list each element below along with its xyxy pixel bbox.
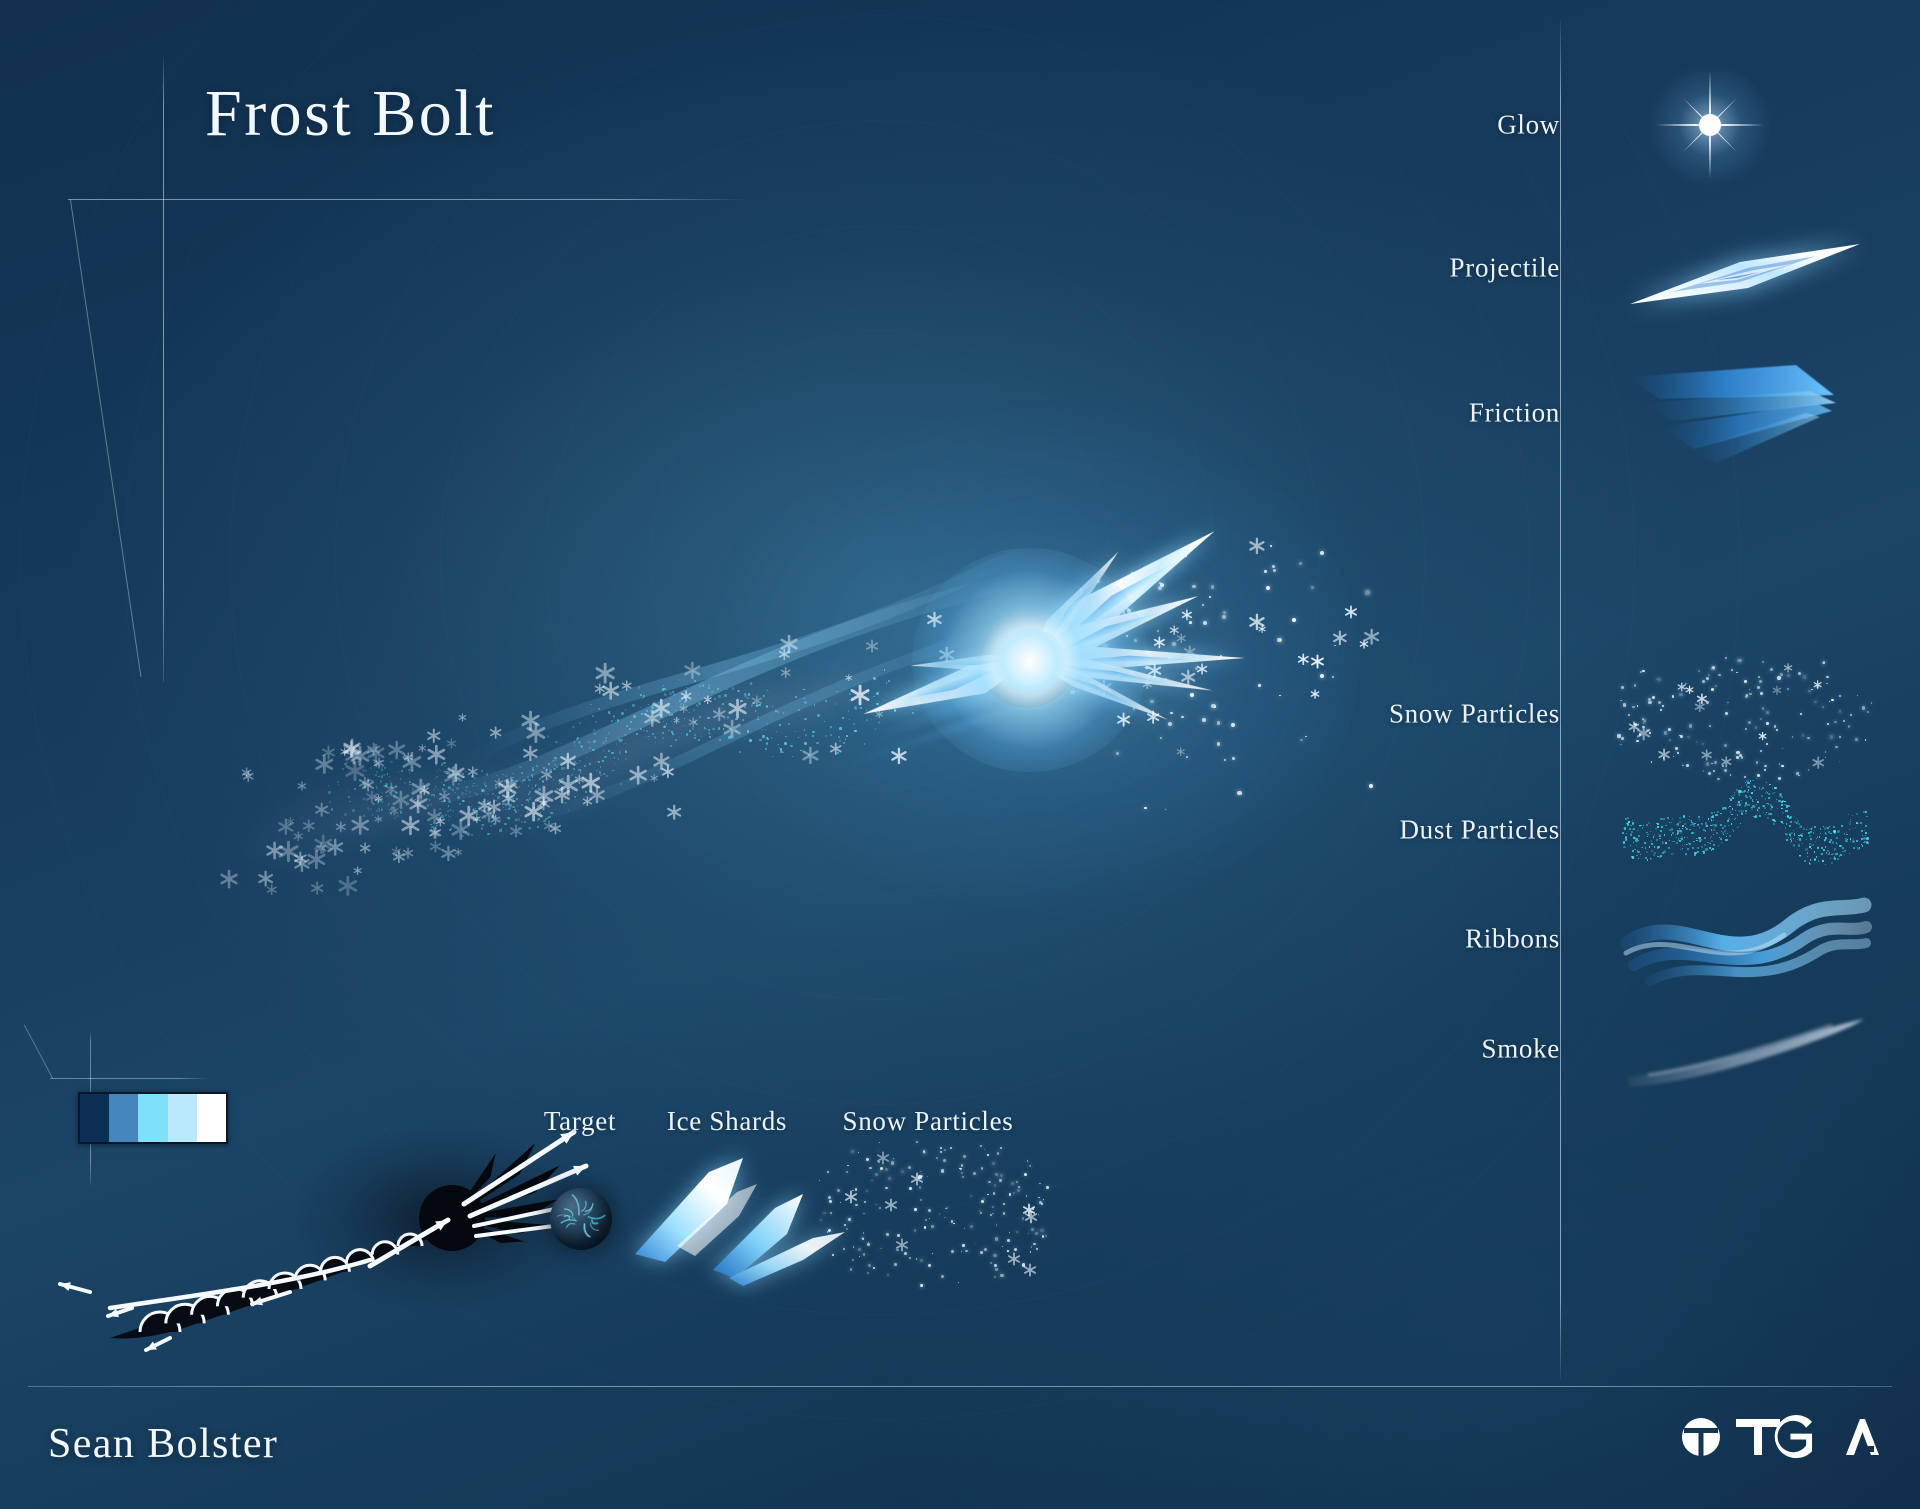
- dust-particle: [412, 769, 414, 771]
- dust-particle: [1822, 860, 1824, 862]
- dust-particle: [436, 776, 438, 778]
- dust-particle: [1679, 840, 1681, 842]
- dust-particle: [348, 768, 349, 769]
- dust-particle: [792, 756, 793, 757]
- snow-particle: [1826, 683, 1828, 685]
- dust-particle: [1817, 836, 1819, 838]
- snow-particle: [1823, 661, 1826, 664]
- dust-particle: [1807, 856, 1808, 857]
- dust-particle: [1726, 836, 1727, 837]
- dust-particle: [1709, 843, 1710, 844]
- dust-particle: [485, 785, 487, 787]
- snow-particle: [946, 1207, 949, 1210]
- dust-particle: [493, 818, 495, 820]
- dust-particle: [561, 778, 563, 780]
- snow-particle: [1160, 737, 1162, 739]
- snow-particle: [1158, 586, 1162, 590]
- dust-particle: [574, 761, 576, 763]
- snow-particle: [880, 1167, 883, 1170]
- dust-particle: [1675, 834, 1676, 835]
- color-palette: [78, 1092, 228, 1144]
- snow-flake: [314, 802, 329, 817]
- dust-particle: [1671, 834, 1673, 836]
- snow-particle: [1078, 600, 1081, 603]
- dust-particle: [1751, 807, 1753, 809]
- dust-particle: [1730, 798, 1732, 800]
- dust-particle: [1766, 803, 1768, 805]
- dust-particle: [1689, 843, 1690, 844]
- snow-flake: [574, 774, 585, 785]
- dust-particle: [505, 775, 507, 777]
- snow-particle: [1077, 690, 1079, 692]
- dust-particle: [557, 788, 558, 789]
- dust-particle: [1785, 810, 1787, 812]
- dust-particle: [395, 786, 396, 787]
- snow-particle: [1736, 672, 1737, 673]
- snow-particle: [940, 1151, 942, 1153]
- dust-particle: [1714, 812, 1715, 813]
- dust-particle: [1826, 852, 1828, 854]
- dust-particle: [477, 803, 478, 804]
- dust-particle: [1677, 823, 1679, 825]
- dust-particle: [394, 809, 397, 812]
- dust-particle: [1671, 853, 1673, 855]
- dust-particle: [1780, 794, 1782, 796]
- dust-particle: [1721, 831, 1722, 832]
- dust-particle: [1795, 841, 1796, 842]
- dust-particle: [450, 809, 452, 811]
- dust-particle: [846, 735, 848, 737]
- dust-particle: [461, 792, 464, 795]
- dust-particle: [1802, 843, 1803, 844]
- dust-particle: [837, 752, 838, 753]
- snow-particle: [1130, 671, 1134, 675]
- snow-particle: [830, 1212, 832, 1214]
- dust-particle: [1650, 858, 1652, 860]
- dust-particle: [1824, 840, 1825, 841]
- dust-particle: [1692, 823, 1694, 825]
- dust-particle: [452, 789, 454, 791]
- dust-particle: [473, 809, 475, 811]
- dust-particle: [448, 786, 449, 787]
- dust-particle: [587, 741, 589, 743]
- snow-particle: [1669, 739, 1671, 741]
- dust-particle: [1637, 851, 1639, 853]
- dust-particle: [528, 779, 531, 782]
- dust-particle: [1638, 851, 1640, 853]
- snow-flake: [829, 742, 843, 756]
- dust-particle: [1809, 846, 1811, 848]
- dust-particle: [1704, 844, 1706, 846]
- snow-particle: [941, 1275, 944, 1278]
- dust-particle: [348, 790, 350, 792]
- dust-particle: [830, 726, 832, 728]
- dust-particle: [442, 788, 444, 790]
- snow-particle: [963, 1155, 966, 1158]
- snow-particle: [1266, 586, 1270, 590]
- snow-particle: [862, 1238, 864, 1240]
- dust-particle: [384, 785, 387, 788]
- dust-particle: [1741, 813, 1742, 814]
- dust-particle: [434, 789, 435, 790]
- dust-particle: [873, 696, 874, 697]
- snow-particle: [1715, 685, 1717, 687]
- snow-particle: [1711, 688, 1714, 691]
- snow-flake: [522, 745, 539, 762]
- dust-particle: [1755, 815, 1757, 817]
- dust-particle: [479, 835, 480, 836]
- dust-particle: [1824, 827, 1825, 828]
- snow-flake: [938, 646, 955, 663]
- dust-particle: [547, 735, 550, 738]
- dust-particle: [514, 809, 516, 811]
- snow-particle: [983, 1198, 985, 1200]
- dust-particle: [469, 791, 471, 793]
- ice-shard-icon: [1610, 198, 1880, 338]
- snow-flake: [497, 778, 518, 799]
- dust-particle: [1768, 813, 1770, 815]
- dust-particle: [537, 826, 539, 828]
- snow-particle: [1007, 1239, 1010, 1242]
- snow-flake: [661, 765, 675, 779]
- dust-particle: [1713, 844, 1715, 846]
- snow-particle: [1652, 696, 1655, 699]
- dust-particle: [564, 767, 566, 769]
- dust-particle: [873, 677, 876, 680]
- dust-particle: [440, 793, 442, 795]
- dust-particle: [412, 767, 413, 768]
- snow-flake: [219, 869, 239, 889]
- snow-flake: [306, 849, 327, 870]
- dust-particle: [1672, 841, 1674, 843]
- dust-particle: [471, 834, 473, 836]
- snow-particle: [837, 1189, 840, 1192]
- snow-particle: [1220, 655, 1222, 657]
- dust-particle: [657, 760, 658, 761]
- dust-particle: [871, 719, 872, 720]
- snow-flake: [477, 798, 492, 813]
- snow-particle: [871, 1180, 873, 1182]
- dust-particle: [585, 791, 588, 794]
- dust-particle: [1762, 787, 1764, 789]
- dust-particle: [1698, 824, 1699, 825]
- snow-flake: [540, 768, 553, 781]
- snow-particle: [1217, 721, 1221, 725]
- snow-particle: [1745, 728, 1748, 731]
- dust-particle: [483, 815, 485, 817]
- dust-particle: [1679, 821, 1681, 823]
- dust-particle: [1797, 849, 1798, 850]
- dust-particle: [1650, 858, 1652, 860]
- dust-particle: [724, 731, 725, 732]
- snow-flake: [1023, 1263, 1037, 1277]
- dust-particle: [585, 777, 586, 778]
- dust-particle: [411, 793, 412, 794]
- dust-particle: [479, 808, 481, 810]
- snow-particle: [916, 1258, 918, 1260]
- dust-particle: [1749, 804, 1750, 805]
- dust-particle: [1833, 853, 1834, 854]
- dust-particle: [1625, 818, 1627, 820]
- dust-particle: [1806, 839, 1807, 840]
- dust-particle: [1752, 801, 1753, 802]
- dust-particle: [412, 788, 414, 790]
- dust-particle: [1788, 837, 1789, 838]
- dust-particle: [401, 804, 403, 806]
- snow-particle: [990, 1262, 992, 1264]
- dust-particle: [526, 799, 529, 802]
- dust-particle: [1794, 833, 1795, 834]
- dust-particle: [461, 828, 463, 830]
- snow-particle: [1724, 744, 1727, 747]
- snow-particle: [1621, 737, 1624, 740]
- dust-particle: [1643, 825, 1644, 826]
- dust-particle: [497, 796, 500, 799]
- dust-particle: [547, 817, 549, 819]
- dust-particle: [625, 751, 626, 752]
- dust-particle: [1685, 827, 1686, 828]
- dust-particle: [600, 766, 602, 768]
- dust-particle: [540, 812, 541, 813]
- dust-particle: [1839, 845, 1841, 847]
- dust-particle: [614, 764, 615, 765]
- dust-particle: [1720, 838, 1721, 839]
- dust-particle: [1828, 831, 1830, 833]
- snow-particle: [1202, 604, 1204, 606]
- snow-particle: [927, 1176, 928, 1177]
- dust-particle: [1741, 813, 1743, 815]
- dust-particle: [1701, 823, 1703, 825]
- legend-label: Projectile: [1450, 253, 1560, 284]
- snow-particle: [1144, 807, 1147, 810]
- dust-particle: [1653, 836, 1655, 838]
- snow-particle: [1642, 670, 1645, 673]
- dust-particle: [441, 815, 444, 818]
- dust-particle: [605, 737, 607, 739]
- dust-particle: [485, 781, 486, 782]
- snow-particle: [909, 1257, 911, 1259]
- dust-particle: [1646, 832, 1647, 833]
- dust-particle: [625, 758, 627, 760]
- dust-particle: [1645, 857, 1647, 859]
- snow-particle: [1762, 661, 1764, 663]
- snow-flake: [315, 842, 327, 854]
- dust-particle: [1699, 827, 1700, 828]
- dust-particle: [1624, 829, 1625, 830]
- dust-particle: [1813, 844, 1815, 846]
- dust-particle: [1781, 821, 1783, 823]
- dust-particle: [1830, 858, 1831, 859]
- snow-particle: [962, 1176, 964, 1178]
- snow-particle: [1046, 1186, 1049, 1189]
- dust-particle: [1634, 836, 1635, 837]
- dust-particle: [1836, 843, 1837, 844]
- dust-particle: [1856, 822, 1858, 824]
- dust-particle: [1863, 842, 1865, 844]
- dust-particle: [1746, 785, 1747, 786]
- dust-particle: [1686, 844, 1687, 845]
- dust-particle: [1773, 823, 1775, 825]
- dust-particle: [379, 811, 380, 812]
- dust-particle: [1766, 793, 1767, 794]
- dust-particle: [549, 825, 551, 827]
- dust-particle: [1659, 838, 1660, 839]
- snow-particle: [1029, 1165, 1031, 1167]
- dust-particle: [475, 808, 476, 809]
- snow-particle: [1169, 566, 1172, 569]
- dust-particle: [543, 796, 545, 798]
- snow-particle: [973, 1172, 976, 1175]
- dust-particle: [1811, 845, 1812, 846]
- dust-particle: [338, 784, 339, 785]
- dust-particle: [1626, 833, 1627, 834]
- smoke-wisp-icon: [1610, 979, 1880, 1119]
- dust-particle: [1625, 839, 1627, 841]
- dust-particle: [1864, 841, 1865, 842]
- snow-flake: [501, 791, 516, 806]
- snow-flake: [540, 799, 547, 806]
- dust-particle: [1747, 782, 1749, 784]
- snow-particle: [931, 1225, 934, 1228]
- snow-particle: [1658, 678, 1661, 681]
- snow-particle: [1116, 674, 1119, 677]
- dust-particle: [1789, 825, 1791, 827]
- dust-particle: [574, 741, 575, 742]
- dust-particle: [1816, 856, 1817, 857]
- dust-particle: [1710, 825, 1711, 826]
- dust-particle: [534, 774, 536, 776]
- snow-flake: [265, 841, 284, 860]
- dust-particle: [1633, 837, 1634, 838]
- dust-particle: [1840, 854, 1842, 856]
- dust-particle: [1714, 824, 1716, 826]
- dust-particle: [532, 767, 534, 769]
- snow-particle: [1002, 1246, 1003, 1247]
- dust-particle: [1731, 796, 1732, 797]
- snow-particle: [1073, 627, 1076, 630]
- dust-particle: [1821, 853, 1823, 855]
- dust-particle: [1805, 848, 1807, 850]
- snow-flake: [1677, 679, 1687, 695]
- legend-label: Ribbons: [1465, 924, 1560, 955]
- dust-particle: [354, 788, 356, 790]
- snow-particle: [904, 1252, 907, 1255]
- dust-particle: [1835, 853, 1837, 855]
- dust-particle: [491, 833, 492, 834]
- dust-particle: [429, 799, 430, 800]
- tga-logo: [1678, 1414, 1884, 1460]
- snow-flake: [480, 805, 498, 823]
- starburst-glow-icon: [1610, 55, 1880, 195]
- dust-particle: [1834, 848, 1836, 850]
- dust-particle: [1711, 840, 1713, 842]
- dust-particle: [1836, 842, 1837, 843]
- dust-particle: [1737, 827, 1738, 828]
- dust-particle: [851, 699, 854, 702]
- snow-flake: [1116, 712, 1131, 727]
- dust-particle: [568, 810, 570, 812]
- dust-particle: [518, 827, 520, 829]
- dust-particle: [1811, 827, 1813, 829]
- snow-particle: [1041, 1203, 1043, 1205]
- dust-particle: [1858, 823, 1859, 824]
- dust-particle: [422, 785, 424, 787]
- dust-particle: [1710, 817, 1712, 819]
- dust-particle: [1778, 800, 1780, 802]
- dust-particle: [1729, 798, 1730, 799]
- snow-particle: [987, 1194, 988, 1195]
- dust-particle: [1724, 825, 1726, 827]
- dust-particle: [363, 798, 365, 800]
- dust-particle: [1711, 849, 1713, 851]
- snow-flake: [358, 776, 372, 790]
- snow-flake: [446, 738, 457, 749]
- snow-flake: [1101, 642, 1109, 650]
- dust-particle: [1833, 830, 1835, 832]
- snow-particle: [1620, 700, 1621, 701]
- legend-label: Dust Particles: [1399, 815, 1560, 846]
- dust-particle: [1693, 824, 1695, 826]
- dust-particle: [1735, 810, 1736, 811]
- dust-particle: [804, 742, 807, 745]
- dust-particle: [560, 781, 562, 783]
- dust-particle: [1799, 826, 1801, 828]
- projectile-core-sphere: [978, 614, 1076, 708]
- snow-particle: [894, 1263, 897, 1266]
- dust-particle: [1786, 839, 1788, 841]
- dust-particle: [1720, 813, 1722, 815]
- title-rule-horizontal: [68, 199, 748, 200]
- dust-particle: [1790, 838, 1792, 840]
- dust-particle: [1667, 817, 1669, 819]
- snow-particle: [1165, 678, 1167, 680]
- dust-particle: [1683, 815, 1685, 817]
- dust-particle: [499, 829, 502, 832]
- palette-swatch-pale-ice: [168, 1094, 197, 1142]
- dust-particle: [675, 739, 677, 741]
- snow-particle: [1774, 725, 1776, 727]
- snow-particle: [920, 1284, 923, 1287]
- snow-particle: [827, 1171, 829, 1173]
- dust-particle: [528, 813, 530, 815]
- snow-particle: [875, 1173, 878, 1176]
- dust-particle: [1718, 845, 1720, 847]
- snow-flake: [1142, 679, 1152, 689]
- dust-particle: [349, 801, 351, 803]
- snow-flake: [429, 826, 442, 839]
- dust-particle: [668, 730, 669, 731]
- dust-particle: [435, 786, 437, 788]
- dust-particle: [433, 828, 435, 830]
- dust-particle: [1684, 823, 1686, 825]
- snow-particle: [1224, 759, 1226, 761]
- snow-flake: [366, 742, 381, 757]
- snow-flake: [361, 778, 375, 792]
- dust-particle: [1623, 842, 1625, 844]
- dust-particle: [654, 736, 656, 738]
- dust-particle: [451, 789, 452, 790]
- dust-particle: [521, 821, 523, 823]
- dust-particle: [1849, 823, 1851, 825]
- breakdown-caption: Ice Shards: [667, 1106, 787, 1137]
- smoke-haze: [442, 740, 593, 857]
- dust-particle: [543, 767, 545, 769]
- dust-particle: [860, 707, 862, 709]
- snow-particle: [1030, 1251, 1031, 1252]
- dust-particle: [329, 801, 331, 803]
- snow-flake: [557, 774, 579, 796]
- snow-particle: [1181, 716, 1184, 719]
